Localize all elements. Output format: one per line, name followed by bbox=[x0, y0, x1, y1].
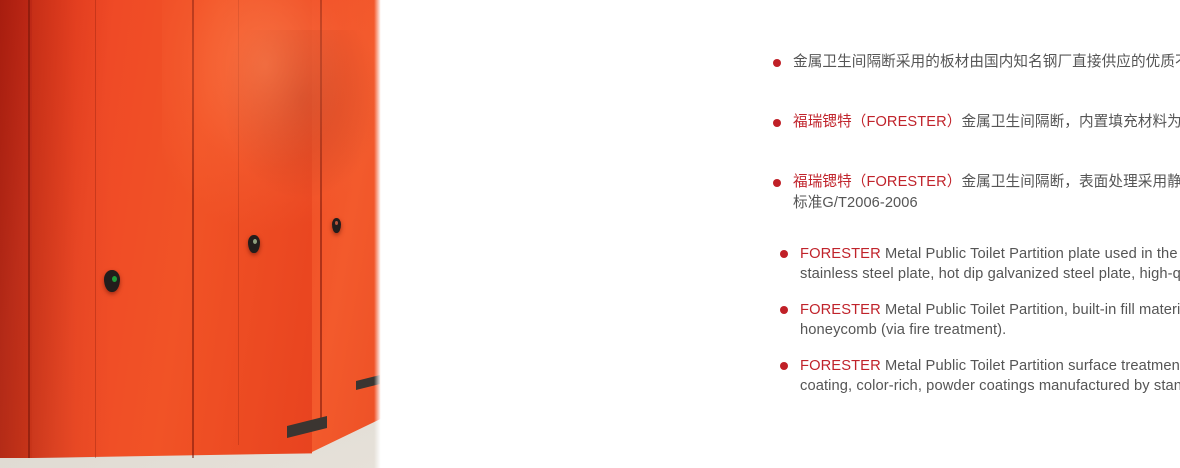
bullet-body: 金属卫生间隔断采用的板材由国内知名钢厂直接供应的优质不锈钢板、热镀锌钢板、优质铝… bbox=[793, 54, 1180, 70]
bullet-text: FORESTER Metal Public Toilet Partition s… bbox=[800, 358, 1180, 394]
bullet-text: FORESTER Metal Public Toilet Partition, … bbox=[800, 302, 1180, 338]
brand-name: FORESTER bbox=[800, 302, 881, 318]
bullet-body: 金属卫生间隔断，内置填充材料为优质铝蜂窝、纸蜂窝（经防火处理） bbox=[961, 114, 1180, 130]
panel-seam bbox=[320, 0, 322, 420]
bullet-dot-icon bbox=[773, 119, 781, 127]
product-photo bbox=[0, 0, 382, 468]
bullet-dot-icon bbox=[780, 306, 788, 314]
panel-seam bbox=[28, 0, 30, 458]
brand-name: FORESTER bbox=[800, 246, 881, 262]
feature-list-panel: 金属卫生间隔断采用的板材由国内知名钢厂直接供应的优质不锈钢板、热镀锌钢板、优质铝… bbox=[382, 0, 1180, 468]
list-item: FORESTER Metal Public Toilet Partition p… bbox=[774, 244, 1180, 284]
panel-seam bbox=[192, 0, 194, 458]
list-item: FORESTER Metal Public Toilet Partition s… bbox=[774, 356, 1180, 396]
bullet-text: 福瑞锶特（FORESTER）金属卫生间隔断，内置填充材料为优质铝蜂窝、纸蜂窝（经… bbox=[793, 114, 1180, 130]
panel-seam bbox=[95, 0, 96, 458]
bullet-text: 福瑞锶特（FORESTER）金属卫生间隔断，表面处理采用静电粉末喷涂、氟碳喷涂，… bbox=[793, 174, 1180, 211]
latch-indicator-dot bbox=[335, 221, 338, 225]
panel-seam bbox=[238, 0, 239, 445]
brand-name: FORESTER bbox=[800, 358, 881, 374]
partition-panel bbox=[32, 0, 312, 458]
photo-right-fade bbox=[374, 0, 382, 468]
brand-name: 福瑞锶特（FORESTER） bbox=[793, 174, 961, 190]
list-item: 福瑞锶特（FORESTER）金属卫生间隔断，内置填充材料为优质铝蜂窝、纸蜂窝（经… bbox=[767, 112, 1180, 133]
list-item: 金属卫生间隔断采用的板材由国内知名钢厂直接供应的优质不锈钢板、热镀锌钢板、优质铝… bbox=[767, 52, 1180, 73]
list-item: 福瑞锶特（FORESTER）金属卫生间隔断，表面处理采用静电粉末喷涂、氟碳喷涂，… bbox=[767, 172, 1180, 214]
bullet-dot-icon bbox=[780, 250, 788, 258]
partition-wall bbox=[0, 0, 382, 460]
list-item: FORESTER Metal Public Toilet Partition, … bbox=[774, 300, 1180, 340]
latch-indicator-dot bbox=[112, 276, 117, 282]
latch-indicator-dot bbox=[253, 239, 257, 244]
bullet-dot-icon bbox=[773, 59, 781, 67]
bullet-text: 金属卫生间隔断采用的板材由国内知名钢厂直接供应的优质不锈钢板、热镀锌钢板、优质铝… bbox=[793, 54, 1180, 70]
bullet-dot-icon bbox=[780, 362, 788, 370]
bullet-text: FORESTER Metal Public Toilet Partition p… bbox=[800, 246, 1180, 282]
brand-name: 福瑞锶特（FORESTER） bbox=[793, 114, 961, 130]
bullet-dot-icon bbox=[773, 179, 781, 187]
product-feature-banner: 金属卫生间隔断采用的板材由国内知名钢厂直接供应的优质不锈钢板、热镀锌钢板、优质铝… bbox=[0, 0, 1180, 468]
